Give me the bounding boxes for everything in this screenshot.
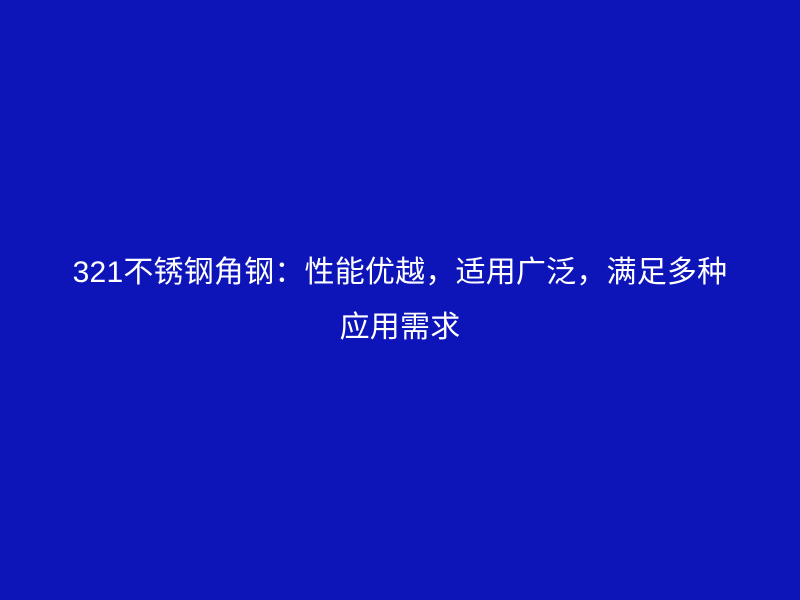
title-block: 321不锈钢角钢：性能优越，适用广泛，满足多种应用需求 xyxy=(50,245,750,355)
page-title: 321不锈钢角钢：性能优越，适用广泛，满足多种应用需求 xyxy=(60,245,740,355)
title-card: 321不锈钢角钢：性能优越，适用广泛，满足多种应用需求 xyxy=(0,0,800,600)
